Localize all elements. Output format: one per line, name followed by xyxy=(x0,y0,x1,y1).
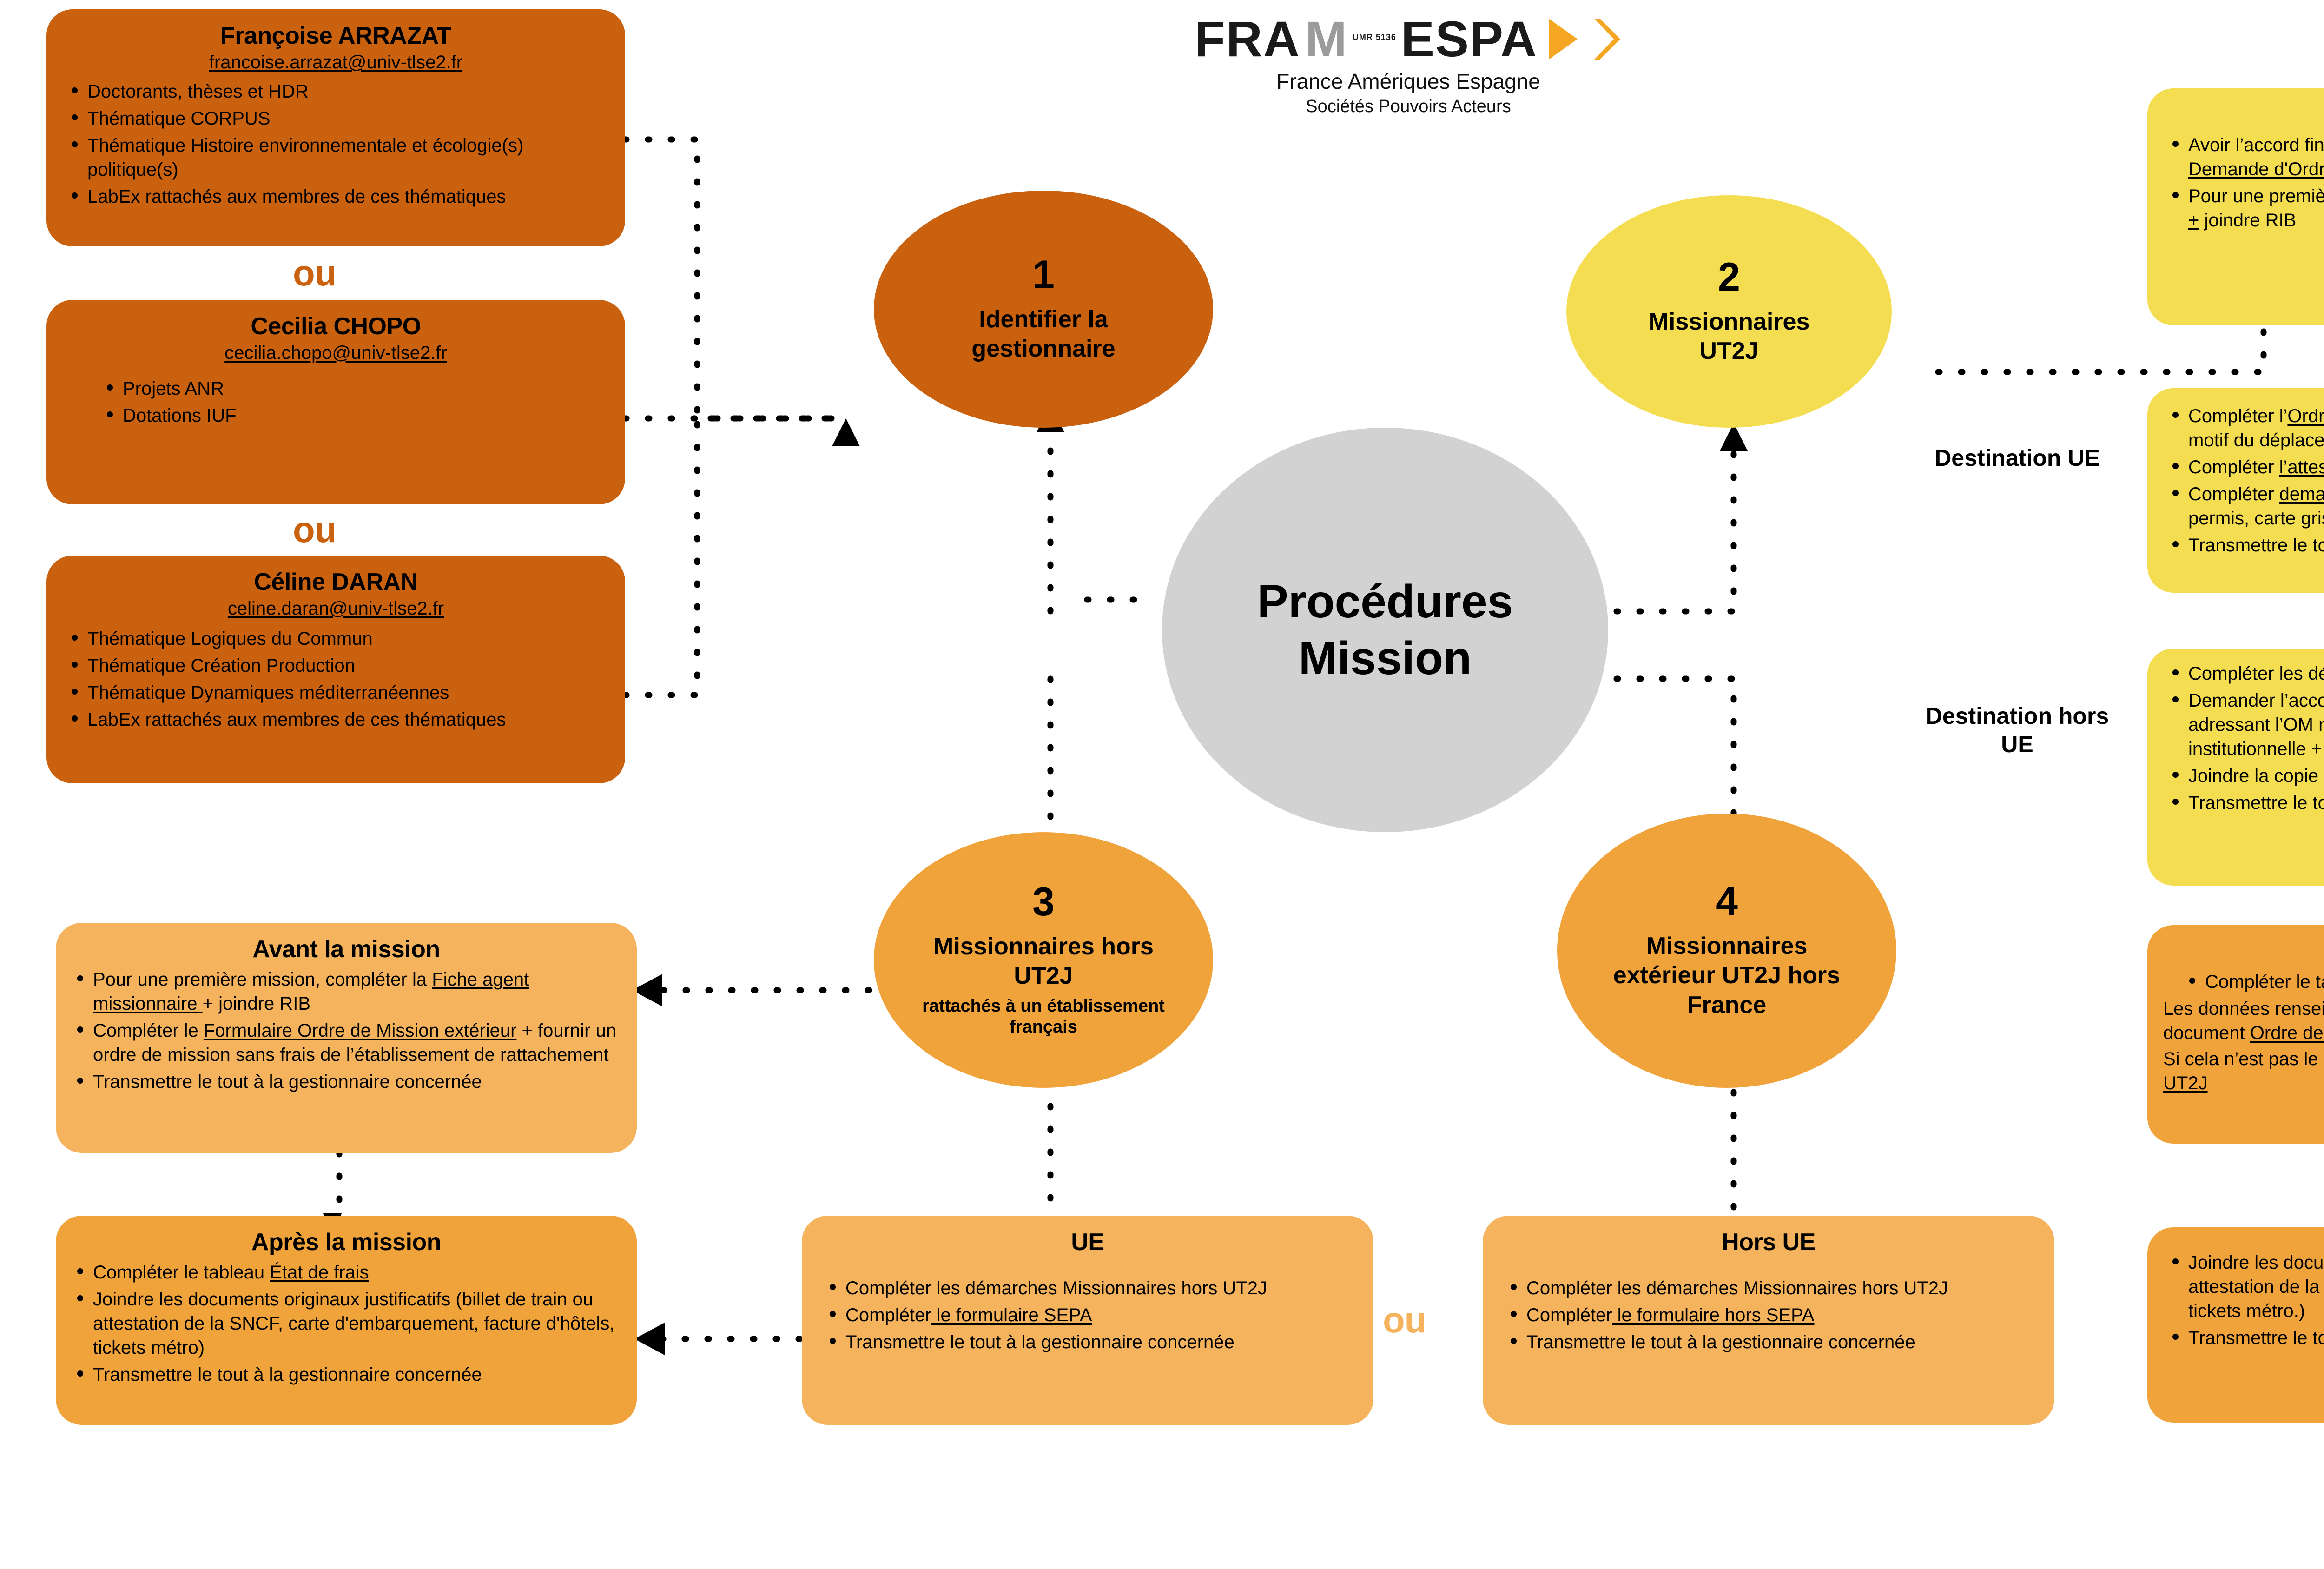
linked-text[interactable]: demande utilisation véhicule perso xyxy=(2279,484,2324,504)
box-ext-hors-ue[interactable]: Hors UE Compléter les démarches Missionn… xyxy=(1483,1216,2054,1425)
plain-text: Compléter xyxy=(2188,484,2279,504)
box-ut2j-apres-documents[interactable]: Joindre les documents originaux justific… xyxy=(2147,1227,2324,1423)
box-items: Compléter le tableau État de frais xyxy=(2163,970,2324,994)
manager-email[interactable]: francoise.arrazat@univ-tlse2.fr xyxy=(62,52,609,73)
double-chevron-icon xyxy=(1547,18,1622,60)
diagram-canvas: FRAMUMR 5136ESPA France Amériques Espagn… xyxy=(0,0,2324,1569)
box-hors-ut2j-apres-mission[interactable]: Après la mission Compléter le tableau Ét… xyxy=(56,1216,637,1425)
box-items: Compléter les démarches pour un départ U… xyxy=(2163,662,2324,815)
box-ext-ue[interactable]: UE Compléter les démarches Missionnaires… xyxy=(802,1216,1373,1425)
step-number: 3 xyxy=(1032,882,1055,922)
linked-text[interactable]: l’attestation étudiante xyxy=(2279,457,2324,477)
box-items: Pour une première mission, compléter la … xyxy=(72,967,621,1094)
list-item: Thématique Dynamiques méditerranéennes xyxy=(87,681,609,705)
plain-text: Compléter xyxy=(2188,457,2279,477)
separator-ou-1: ou xyxy=(293,255,336,291)
list-item: Doctorants, thèses et HDR xyxy=(87,79,609,104)
plain-text: Transmettre le tout à la gestionnaire co… xyxy=(2188,793,2324,813)
list-item: Transmettre le tout à la gestionnaire co… xyxy=(93,1363,621,1387)
list-item: Transmettre le tout à la gestionnaire co… xyxy=(2188,791,2324,815)
manager-name: Cecilia CHOPO xyxy=(62,313,609,340)
step-circle-4[interactable]: 4 Missionnaires extérieur UT2J hors Fran… xyxy=(1557,814,1896,1088)
manager-name: Céline DARAN xyxy=(62,569,609,596)
step-label: Missionnaires UT2J xyxy=(1620,307,1838,366)
step-circle-1[interactable]: 1 Identifier la gestionnaire xyxy=(874,191,1213,428)
box-title: Hors UE xyxy=(1499,1229,2039,1256)
plain-text: Compléter xyxy=(1526,1305,1612,1325)
manager-topics-list: Doctorants, thèses et HDR Thématique COR… xyxy=(62,79,609,209)
box-paragraphs: Les données renseignées doivent correspo… xyxy=(2163,997,2324,1095)
center-hub: Procédures Mission xyxy=(1162,428,1608,832)
list-item: Thématique Logiques du Commun xyxy=(87,627,609,651)
step-number: 4 xyxy=(1716,881,1738,921)
step-circle-2[interactable]: 2 Missionnaires UT2J xyxy=(1566,195,1892,428)
manager-topics-list: Projets ANR Dotations IUF xyxy=(62,377,609,428)
plain-text: Compléter le tableau xyxy=(93,1262,270,1283)
plain-text: Avoir l’accord financier pour partir en … xyxy=(2188,135,2324,155)
list-item: Transmettre le tout à la gestionnaire co… xyxy=(2188,533,2324,557)
list-item: Pour une première mission remplir la Fic… xyxy=(2188,184,2324,232)
list-item: LabEx rattachés aux membres de ces théma… xyxy=(87,185,609,209)
plain-text: Compléter xyxy=(845,1305,931,1325)
list-item: Compléter les démarches Missionnaires ho… xyxy=(1526,1276,2039,1300)
box-items: Compléter les démarches Missionnaires ho… xyxy=(818,1276,1358,1354)
box-ut2j-apres-mission[interactable]: Après la mission Compléter le tableau Ét… xyxy=(2147,925,2324,1144)
plain-text: Compléter le xyxy=(93,1020,204,1041)
linked-text[interactable]: Demande d'Ordre de Mission sans frais xyxy=(2188,159,2324,179)
manager-card-arrazat[interactable]: Françoise ARRAZAT francoise.arrazat@univ… xyxy=(46,9,625,246)
plain-text: Compléter les démarches Missionnaires ho… xyxy=(1526,1278,1948,1298)
hub-title-line2: Mission xyxy=(1299,630,1472,687)
logo-wordmark: FRAMUMR 5136ESPA xyxy=(1176,14,1641,64)
step-number: 1 xyxy=(1032,255,1055,295)
plain-text: Transmettre le tout à la gestionnaire co… xyxy=(845,1332,1235,1352)
step-number: 2 xyxy=(1718,257,1740,297)
manager-card-daran[interactable]: Céline DARAN celine.daran@univ-tlse2.fr … xyxy=(46,556,625,783)
step-label: Identifier la gestionnaire xyxy=(932,305,1155,364)
paragraph: Si cela n’est pas le cas, compléter à no… xyxy=(2163,1047,2324,1095)
list-item: Avoir l’accord financier pour partir en … xyxy=(2188,133,2324,181)
box-items: Compléter les démarches Missionnaires ho… xyxy=(1499,1276,2039,1354)
logo-word-part2: M xyxy=(1305,14,1348,64)
step-label: Missionnaires extérieur UT2J hors France xyxy=(1597,932,1857,1020)
logo-subtitle-1: France Amériques Espagne xyxy=(1176,69,1641,94)
step-circle-3[interactable]: 3 Missionnaires hors UT2J rattachés à un… xyxy=(874,832,1213,1088)
plain-text: Transmettre le tout à la gestionnaire co… xyxy=(93,1072,482,1092)
manager-email[interactable]: celine.daran@univ-tlse2.fr xyxy=(62,598,609,619)
label-destination-ue: Destination UE xyxy=(1920,444,2115,472)
plain-text: Compléter l’ xyxy=(2188,406,2287,426)
list-item: Transmettre le tout à la gestionnaire co… xyxy=(2188,1326,2324,1350)
box-items: Joindre les documents originaux justific… xyxy=(2163,1251,2324,1350)
plain-text: Demander l’accord du FSD xyxy=(2188,690,2324,711)
list-item: Compléter le formulaire hors SEPA xyxy=(1526,1303,2039,1327)
step-sublabel: rattachés à un établissement français xyxy=(904,996,1183,1038)
plain-text: Si cela n’est pas le cas, compléter à no… xyxy=(2163,1049,2324,1069)
logo-word-part3: ESPA xyxy=(1401,14,1538,64)
box-hors-ut2j-avant-mission[interactable]: Avant la mission Pour une première missi… xyxy=(56,923,637,1153)
list-item: Thématique CORPUS xyxy=(87,106,609,131)
linked-text[interactable]: Ordre de Mission UT2J xyxy=(2287,406,2324,426)
linked-text[interactable]: Formulaire Ordre de Mission extérieur xyxy=(204,1020,517,1041)
list-item: Joindre les documents originaux justific… xyxy=(93,1287,621,1360)
box-title: UE xyxy=(818,1229,1358,1256)
list-item: LabEx rattachés aux membres de ces théma… xyxy=(87,708,609,732)
list-item: Compléter le tableau État de frais xyxy=(93,1260,621,1284)
list-item: Compléter l’Ordre de Mission UT2J + join… xyxy=(2188,404,2324,452)
framespa-logo: FRAMUMR 5136ESPA France Amériques Espagn… xyxy=(1176,14,1641,117)
list-item: Compléter les démarches Missionnaires ho… xyxy=(845,1276,1358,1300)
box-ut2j-destination-hors-ue[interactable]: Compléter les démarches pour un départ U… xyxy=(2147,649,2324,886)
box-items: Compléter l’Ordre de Mission UT2J + join… xyxy=(2163,404,2324,557)
box-title: Après la mission xyxy=(2163,938,2324,965)
plain-text: Compléter les démarches pour un départ U… xyxy=(2188,663,2324,684)
paragraph: Les données renseignées doivent correspo… xyxy=(2163,997,2324,1045)
box-ut2j-destination-ue[interactable]: Compléter l’Ordre de Mission UT2J + join… xyxy=(2147,388,2324,593)
list-item: Compléter le tableau État de frais xyxy=(2205,970,2324,994)
box-items: Compléter le tableau État de fraisJoindr… xyxy=(72,1260,621,1387)
manager-email[interactable]: cecilia.chopo@univ-tlse2.fr xyxy=(62,343,609,364)
plain-text: joindre RIB xyxy=(2199,210,2296,231)
box-items: Avoir l’accord financier pour partir en … xyxy=(2163,133,2324,232)
plain-text: Compléter les démarches Missionnaires ho… xyxy=(845,1278,1267,1298)
box-title: Avant la mission xyxy=(2163,101,2324,128)
plain-text: Transmettre le tout à la gestionnaire co… xyxy=(1526,1332,1915,1352)
plain-text: Transmettre le tout à la gestionnaire co… xyxy=(2188,1328,2324,1348)
list-item: Transmettre le tout à la gestionnaire co… xyxy=(93,1070,621,1094)
list-item: Compléter demande utilisation véhicule p… xyxy=(2188,482,2324,530)
hub-title-line1: Procédures xyxy=(1257,573,1513,630)
list-item: Compléter le Formulaire Ordre de Mission… xyxy=(93,1019,621,1067)
plain-text: + joindre RIB xyxy=(203,993,310,1014)
list-item: Thématique Création Production xyxy=(87,654,609,678)
list-item: Joindre la copie du passeport xyxy=(2188,764,2324,788)
manager-topics-list: Thématique Logiques du Commun Thématique… xyxy=(62,627,609,732)
plain-text: Transmettre le tout à la gestionnaire co… xyxy=(2188,535,2324,556)
list-item: Compléter les démarches pour un départ U… xyxy=(2188,662,2324,686)
list-item: Joindre les documents originaux justific… xyxy=(2188,1251,2324,1323)
logo-word-part1: FRA xyxy=(1195,14,1301,64)
separator-ou-bottom: ou xyxy=(1383,1302,1426,1338)
separator-ou-2: ou xyxy=(293,511,336,548)
list-item: Transmettre le tout à la gestionnaire co… xyxy=(845,1330,1358,1354)
linked-text[interactable]: Ordre de Mission UT2J xyxy=(2250,1023,2324,1043)
box-title: Après la mission xyxy=(72,1229,621,1256)
linked-text[interactable]: le formulaire hors SEPA xyxy=(1612,1305,1815,1325)
plain-text: Joindre les documents originaux justific… xyxy=(93,1289,615,1358)
plain-text: Transmettre le tout à la gestionnaire co… xyxy=(93,1364,482,1385)
plain-text: Joindre les documents originaux justific… xyxy=(2188,1252,2324,1321)
list-item: Thématique Histoire environnementale et … xyxy=(87,133,609,182)
list-item: Transmettre le tout à la gestionnaire co… xyxy=(1526,1330,2039,1354)
manager-card-chopo[interactable]: Cecilia CHOPO cecilia.chopo@univ-tlse2.f… xyxy=(46,300,625,504)
list-item: Compléter l’attestation étudiante le cas… xyxy=(2188,455,2324,479)
linked-text[interactable]: le formulaire SEPA xyxy=(931,1305,1092,1325)
step-label: Missionnaires hors UT2J xyxy=(923,932,1164,991)
box-title: Avant la mission xyxy=(72,936,621,963)
linked-text[interactable]: État de frais xyxy=(270,1262,369,1283)
label-destination-hors-ue: Destination hors UE xyxy=(1920,702,2115,759)
plain-text: Joindre la copie du passeport xyxy=(2188,766,2324,786)
plain-text: Pour une première mission remplir xyxy=(2188,186,2324,206)
logo-subtitle-2: Sociétés Pouvoirs Acteurs xyxy=(1176,97,1641,117)
plain-text: Compléter le tableau xyxy=(2205,972,2324,992)
list-item: Compléter le formulaire SEPA xyxy=(845,1303,1358,1327)
list-item: Pour une première mission, compléter la … xyxy=(93,967,621,1016)
logo-umr: UMR 5136 xyxy=(1353,33,1396,41)
list-item: Demander l’accord du FSD fsd-ut2j@univ-t… xyxy=(2188,689,2324,761)
list-item: Projets ANR xyxy=(123,377,609,401)
manager-name: Françoise ARRAZAT xyxy=(62,22,609,49)
box-ut2j-avant-mission[interactable]: Avant la mission Avoir l’accord financie… xyxy=(2147,88,2324,325)
plain-text: Pour une première mission, compléter la xyxy=(93,969,432,990)
list-item: Dotations IUF xyxy=(123,404,609,428)
